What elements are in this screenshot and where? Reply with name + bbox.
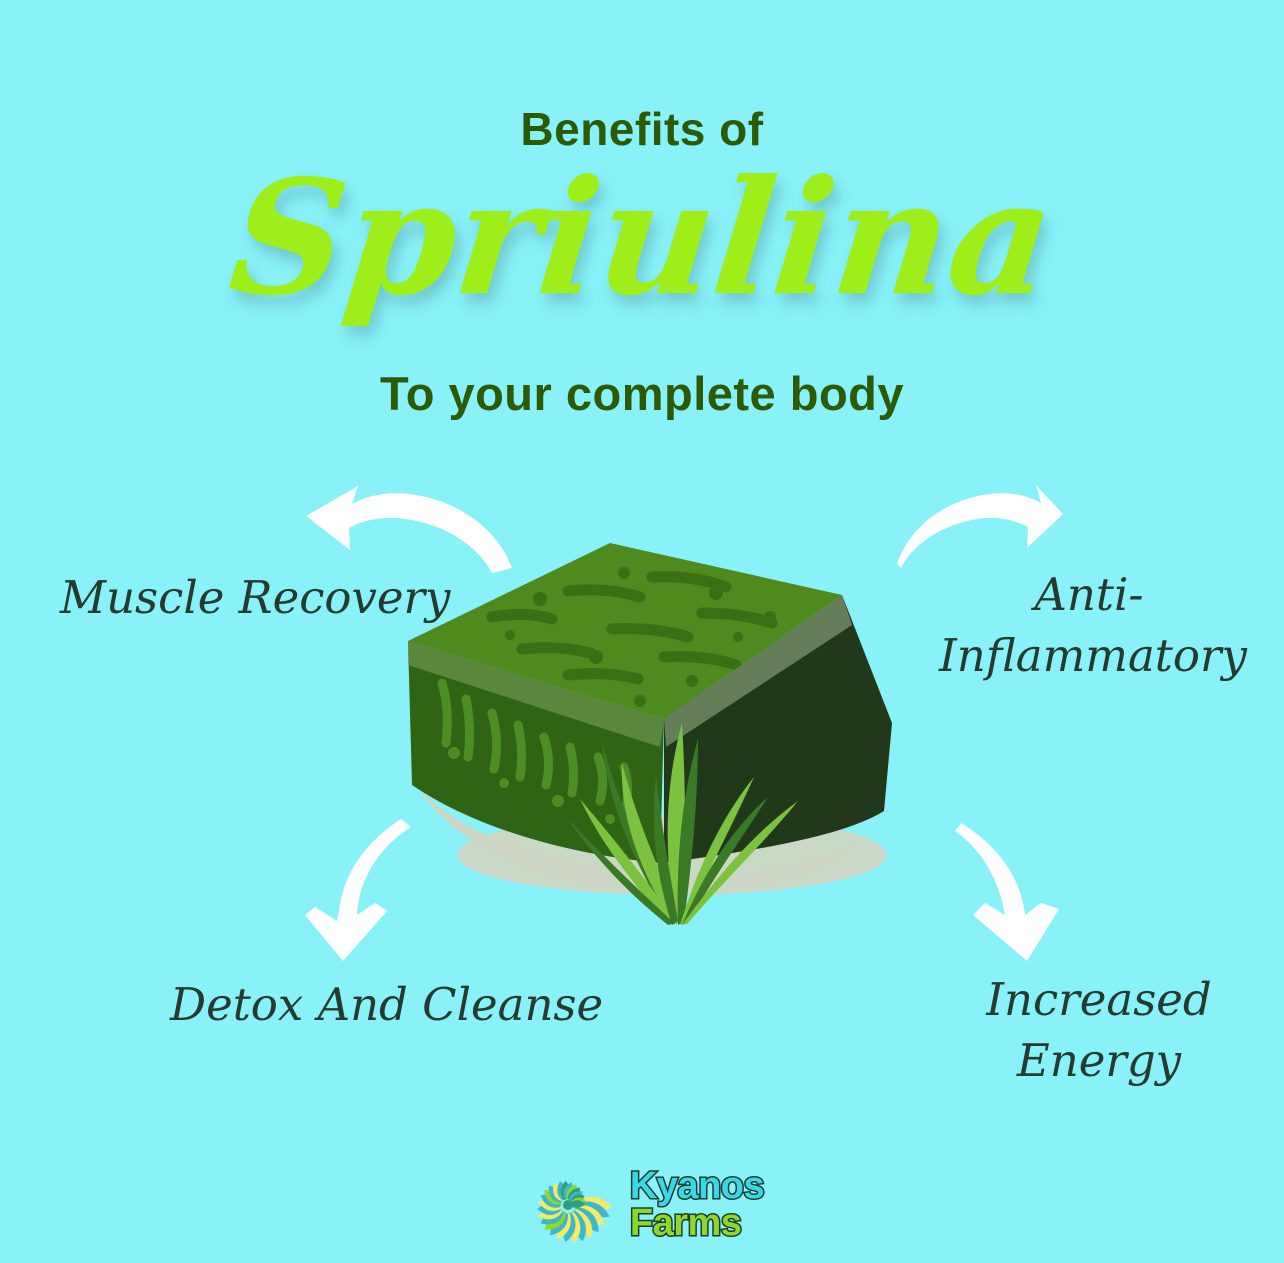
logo-wordmark: Kyanos Farms: [630, 1168, 764, 1242]
infographic-poster: Benefits of Spriulina To your complete b…: [0, 0, 1284, 1263]
page-title: Spriulina: [0, 148, 1284, 330]
logo-word-kyanos: Kyanos: [630, 1168, 764, 1205]
logo-word-farms: Farms: [630, 1205, 742, 1242]
subtitle: To your complete body: [0, 370, 1284, 417]
spiral-mandala-icon: [520, 1157, 616, 1253]
curved-arrow-down-right-icon: [955, 815, 1075, 965]
benefit-label-detox-and-cleanse: Detox And Cleanse: [170, 975, 603, 1036]
spirulina-block-illustration: [372, 533, 932, 933]
benefit-label-increased-energy: Increased Energy: [974, 970, 1224, 1092]
benefit-label-anti-inflammatory: Anti- Inflammatory: [939, 565, 1239, 687]
kyanos-farms-logo[interactable]: Kyanos Farms: [0, 1153, 1284, 1257]
